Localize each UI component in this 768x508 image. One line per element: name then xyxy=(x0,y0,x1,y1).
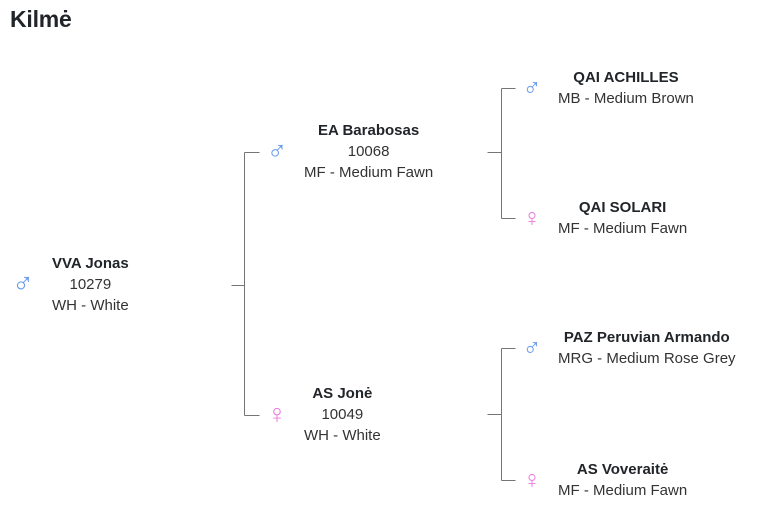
pedigree-node-paternal-grandsire[interactable]: ♂ QAI ACHILLES MB - Medium Brown xyxy=(519,67,764,109)
node-color: MF - Medium Fawn xyxy=(558,218,687,239)
node-name: VVA Jonas xyxy=(52,253,129,274)
node-text-block: EA Barabosas 10068 MF - Medium Fawn xyxy=(304,120,433,183)
female-symbol-icon: ♀ xyxy=(263,401,291,428)
node-color: WH - White xyxy=(304,425,381,446)
node-text-block: AS Jonė 10049 WH - White xyxy=(304,383,381,446)
node-text-block: QAI ACHILLES MB - Medium Brown xyxy=(558,67,694,109)
page-title: Kilmė xyxy=(10,4,72,34)
node-id: 10068 xyxy=(348,141,390,162)
pedigree-node-maternal-granddam[interactable]: ♀ AS Voveraitė MF - Medium Fawn xyxy=(519,459,764,501)
node-text-block: PAZ Peruvian Armando MRG - Medium Rose G… xyxy=(558,327,736,369)
male-symbol-icon: ♂ xyxy=(8,270,38,299)
pedigree-node-paternal-granddam[interactable]: ♀ QAI SOLARI MF - Medium Fawn xyxy=(519,197,764,239)
node-text-block: AS Voveraitė MF - Medium Fawn xyxy=(558,459,687,501)
pedigree-chart: Kilmė ♂ VVA Jonas 10279 xyxy=(0,0,768,508)
male-symbol-icon: ♂ xyxy=(519,76,545,101)
female-symbol-icon: ♀ xyxy=(519,468,545,493)
male-symbol-icon: ♂ xyxy=(519,336,545,361)
node-name: PAZ Peruvian Armando xyxy=(564,327,730,348)
male-symbol-icon: ♂ xyxy=(263,138,291,165)
node-color: MF - Medium Fawn xyxy=(304,162,433,183)
node-id: 10049 xyxy=(321,404,363,425)
pedigree-node-sire[interactable]: ♂ EA Barabosas 10068 MF - Medium Fawn xyxy=(263,120,487,183)
node-color: MRG - Medium Rose Grey xyxy=(558,348,736,369)
node-id: 10279 xyxy=(69,274,111,295)
node-text-block: VVA Jonas 10279 WH - White xyxy=(52,253,129,316)
node-name: AS Jonė xyxy=(312,383,372,404)
node-text-block: QAI SOLARI MF - Medium Fawn xyxy=(558,197,687,239)
node-name: AS Voveraitė xyxy=(577,459,668,480)
node-name: QAI ACHILLES xyxy=(573,67,678,88)
female-symbol-icon: ♀ xyxy=(519,206,545,231)
node-color: MF - Medium Fawn xyxy=(558,480,687,501)
pedigree-node-maternal-grandsire[interactable]: ♂ PAZ Peruvian Armando MRG - Medium Rose… xyxy=(519,327,764,369)
pedigree-node-subject[interactable]: ♂ VVA Jonas 10279 WH - White xyxy=(8,253,223,316)
node-color: MB - Medium Brown xyxy=(558,88,694,109)
node-name: EA Barabosas xyxy=(318,120,419,141)
node-name: QAI SOLARI xyxy=(579,197,667,218)
node-color: WH - White xyxy=(52,295,129,316)
pedigree-node-dam[interactable]: ♀ AS Jonė 10049 WH - White xyxy=(263,383,487,446)
